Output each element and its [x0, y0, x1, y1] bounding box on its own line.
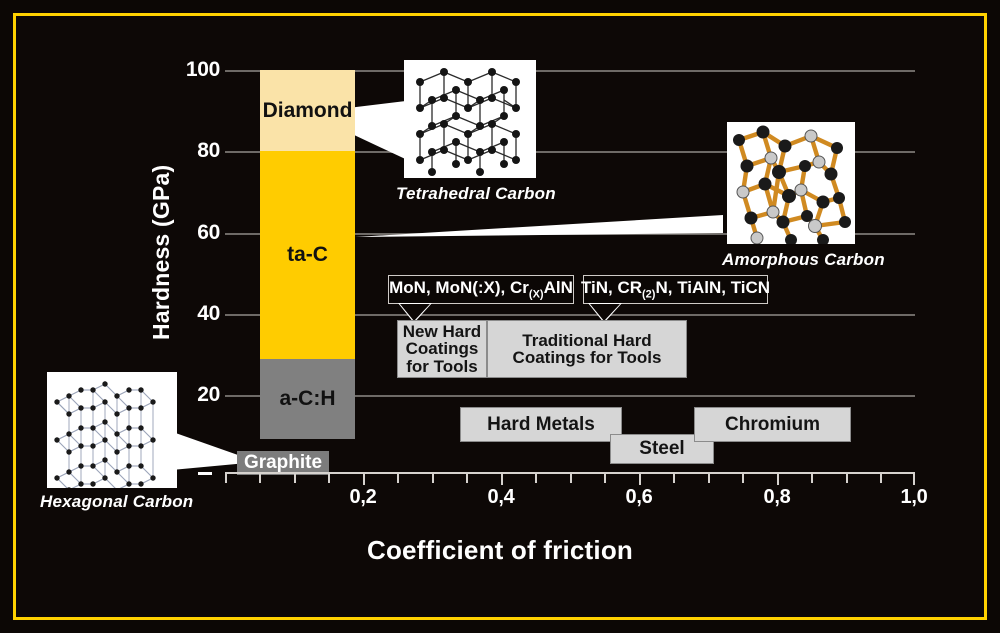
xtick-040 — [501, 472, 503, 485]
bar-segment-ta-c: ta-C — [260, 151, 355, 359]
box-new-hard-line2: Coatings — [406, 340, 479, 357]
bar-label-ta-c: ta-C — [287, 243, 328, 267]
xtick-045 — [535, 472, 537, 483]
xtick-060 — [639, 472, 641, 485]
y-axis-title: Hardness (GPa) — [148, 165, 175, 340]
inset-image-amorphous-carbon — [727, 122, 855, 244]
xtick-025 — [397, 472, 399, 483]
annotation-box-tin: TiN, CR(2)N, TiAlN, TiCN — [583, 275, 768, 304]
box-traditional-hard-coatings: Traditional Hard Coatings for Tools — [487, 320, 687, 378]
xtick-020 — [363, 472, 365, 485]
xtick-0 — [225, 472, 227, 483]
figure-canvas: 100 80 60 40 20 Hardness (GPa) — [0, 0, 1000, 633]
box-new-hard-coatings: New Hard Coatings for Tools — [397, 320, 487, 378]
xtick-070 — [708, 472, 710, 483]
annotation-label-tin: TiN, CR(2)N, TiAlN, TiCN — [581, 278, 770, 300]
bar-segment-diamond: Diamond — [260, 70, 355, 151]
xtick-075 — [742, 472, 744, 483]
annotation-box-mon: MoN, MoN(:X), Cr(X)AlN — [388, 275, 574, 304]
bar-segment-a-c-h: a-C:H — [260, 359, 355, 439]
bar-label-diamond: Diamond — [263, 99, 353, 123]
xtick-label-08: 0,8 — [747, 486, 807, 509]
caption-hexagonal-carbon: Hexagonal Carbon — [40, 492, 193, 512]
box-traditional-line2: Coatings for Tools — [513, 349, 662, 366]
xtick-085 — [811, 472, 813, 483]
xtick-label-10: 1,0 — [884, 486, 944, 509]
origin-dash-mark — [198, 472, 212, 475]
xtick-065 — [673, 472, 675, 483]
xtick-label-02: 0,2 — [333, 486, 393, 509]
bar-label-hard-metals: Hard Metals — [487, 415, 595, 434]
xtick-090 — [846, 472, 848, 483]
ytick-label-80: 80 — [178, 139, 220, 163]
box-traditional-line1: Traditional Hard — [522, 332, 651, 349]
annotation-label-mon: MoN, MoN(:X), Cr(X)AlN — [389, 278, 573, 300]
ytick-label-60: 60 — [178, 221, 220, 245]
bar-chromium: Chromium — [694, 407, 851, 442]
xtick-030 — [432, 472, 434, 483]
bar-label-graphite: Graphite — [244, 452, 322, 474]
xtick-005 — [259, 472, 261, 483]
xtick-100 — [913, 472, 915, 485]
box-new-hard-line1: New Hard — [403, 323, 481, 340]
ytick-label-40: 40 — [178, 302, 220, 326]
xtick-050 — [570, 472, 572, 483]
xtick-055 — [604, 472, 606, 483]
xtick-label-04: 0,4 — [471, 486, 531, 509]
x-axis-title: Coefficient of friction — [0, 535, 1000, 566]
caption-tetrahedral-carbon: Tetrahedral Carbon — [396, 184, 556, 204]
xtick-080 — [777, 472, 779, 485]
inset-image-hexagonal-carbon — [47, 372, 177, 488]
inset-image-tetrahedral-carbon — [404, 60, 536, 178]
bar-label-steel: Steel — [639, 439, 684, 458]
ytick-label-20: 20 — [178, 383, 220, 407]
caption-amorphous-carbon: Amorphous Carbon — [722, 250, 885, 270]
bar-hard-metals: Hard Metals — [460, 407, 622, 442]
bar-label-chromium: Chromium — [725, 415, 820, 434]
xtick-015 — [328, 472, 330, 483]
box-new-hard-line3: for Tools — [406, 358, 477, 375]
xtick-035 — [466, 472, 468, 483]
xtick-label-06: 0,6 — [609, 486, 669, 509]
bar-label-a-c-h: a-C:H — [280, 387, 336, 411]
xtick-095 — [880, 472, 882, 483]
xtick-010 — [294, 472, 296, 483]
ytick-label-100: 100 — [178, 58, 220, 82]
callout-arrow-amorphous — [355, 215, 725, 247]
